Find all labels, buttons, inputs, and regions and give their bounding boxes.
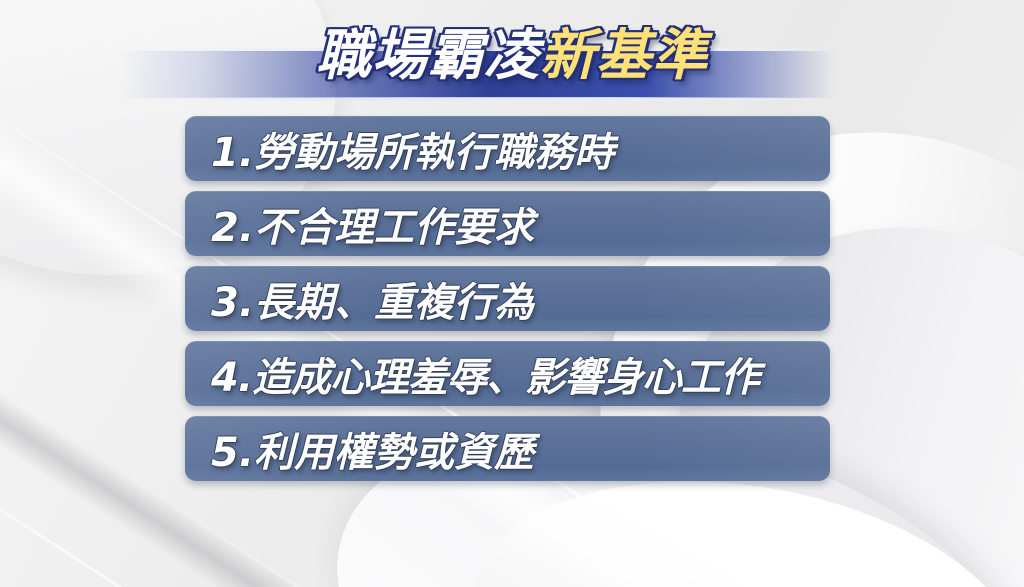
list-item: 2.不合理工作要求 [185, 191, 830, 256]
headline-primary-text: 職場霸凌 [316, 18, 540, 92]
title-band-highlight-bottom [118, 97, 834, 101]
list-item: 3.長期、重複行為 [185, 266, 830, 331]
list-item-label: 3.長期、重複行為 [185, 270, 534, 328]
list-item: 5.利用權勢或資歷 [185, 416, 830, 481]
list-item-label: 1.勞動場所執行職務時 [185, 120, 614, 178]
list-item-label: 5.利用權勢或資歷 [185, 420, 534, 478]
list-item: 1.勞動場所執行職務時 [185, 116, 830, 181]
page-title: 職場霸凌新基準 [0, 18, 1024, 92]
list-item-label: 2.不合理工作要求 [185, 195, 534, 253]
list-item-label: 4.造成心理羞辱、影響身心工作 [185, 345, 759, 403]
infographic-canvas: 職場霸凌新基準 1.勞動場所執行職務時 2.不合理工作要求 3.長期、重複行為 … [0, 0, 1024, 587]
headline-accent-text: 新基準 [540, 18, 708, 92]
criteria-list: 1.勞動場所執行職務時 2.不合理工作要求 3.長期、重複行為 4.造成心理羞辱… [185, 116, 830, 491]
list-item: 4.造成心理羞辱、影響身心工作 [185, 341, 830, 406]
